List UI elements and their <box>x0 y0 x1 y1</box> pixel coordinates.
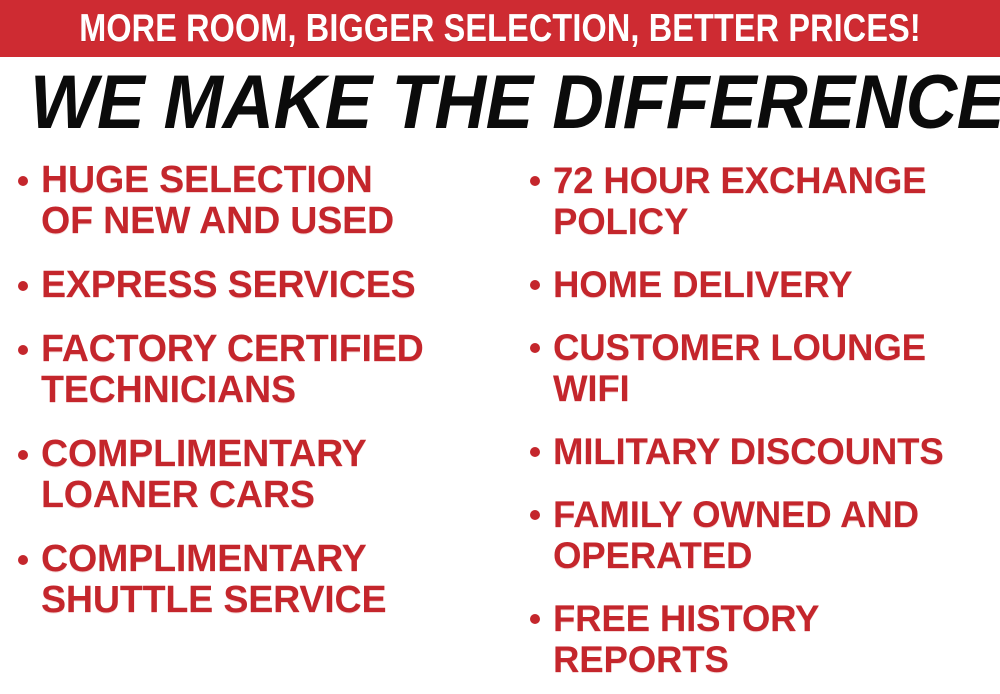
list-item-label: MILITARY DISCOUNTS <box>553 431 944 472</box>
list-item: FREE HISTORY REPORTS <box>530 598 1000 680</box>
bullet-dot-icon <box>530 510 540 520</box>
list-item-label: 72 HOUR EXCHANGE POLICY <box>553 160 926 242</box>
top-red-banner: MORE ROOM, BIGGER SELECTION, BETTER PRIC… <box>0 0 1000 57</box>
banner-headline-text: MORE ROOM, BIGGER SELECTION, BETTER PRIC… <box>79 9 921 48</box>
bullet-dot-icon <box>530 343 540 353</box>
list-item-label: COMPLIMENTARY LOANER CARS <box>41 434 367 516</box>
list-item-label: FREE HISTORY REPORTS <box>553 598 819 680</box>
benefits-columns: HUGE SELECTION OF NEW AND USED EXPRESS S… <box>0 160 1000 694</box>
bullet-dot-icon <box>18 345 28 355</box>
list-item-label: HUGE SELECTION OF NEW AND USED <box>41 160 394 242</box>
bullet-dot-icon <box>530 614 540 624</box>
list-item: HUGE SELECTION OF NEW AND USED <box>18 160 508 242</box>
list-item: COMPLIMENTARY SHUTTLE SERVICE <box>18 539 508 621</box>
list-item-label: CUSTOMER LOUNGE WIFI <box>553 327 926 409</box>
benefits-column-left: HUGE SELECTION OF NEW AND USED EXPRESS S… <box>0 160 508 621</box>
bullet-dot-icon <box>530 280 540 290</box>
list-item: MILITARY DISCOUNTS <box>530 431 1000 472</box>
list-item: CUSTOMER LOUNGE WIFI <box>530 327 1000 409</box>
benefits-column-right: 72 HOUR EXCHANGE POLICY HOME DELIVERY CU… <box>508 160 1000 680</box>
dealership-promo-banner: MORE ROOM, BIGGER SELECTION, BETTER PRIC… <box>0 0 1000 694</box>
list-item-label: HOME DELIVERY <box>553 264 852 305</box>
list-item-label: EXPRESS SERVICES <box>41 265 416 306</box>
bullet-dot-icon <box>18 281 28 291</box>
list-item: EXPRESS SERVICES <box>18 265 508 306</box>
list-item: FAMILY OWNED AND OPERATED <box>530 494 1000 576</box>
bullet-dot-icon <box>18 555 28 565</box>
bullet-dot-icon <box>530 447 540 457</box>
list-item-label: COMPLIMENTARY SHUTTLE SERVICE <box>41 539 386 621</box>
bullet-dot-icon <box>18 450 28 460</box>
list-item-label: FAMILY OWNED AND OPERATED <box>553 494 919 576</box>
list-item: 72 HOUR EXCHANGE POLICY <box>530 160 1000 242</box>
bullet-dot-icon <box>18 176 28 186</box>
list-item-label: FACTORY CERTIFIED TECHNICIANS <box>41 329 424 411</box>
page-title: WE MAKE THE DIFFERENCE <box>30 63 970 143</box>
list-item: FACTORY CERTIFIED TECHNICIANS <box>18 329 508 411</box>
list-item: HOME DELIVERY <box>530 264 1000 305</box>
list-item: COMPLIMENTARY LOANER CARS <box>18 434 508 516</box>
bullet-dot-icon <box>530 176 540 186</box>
